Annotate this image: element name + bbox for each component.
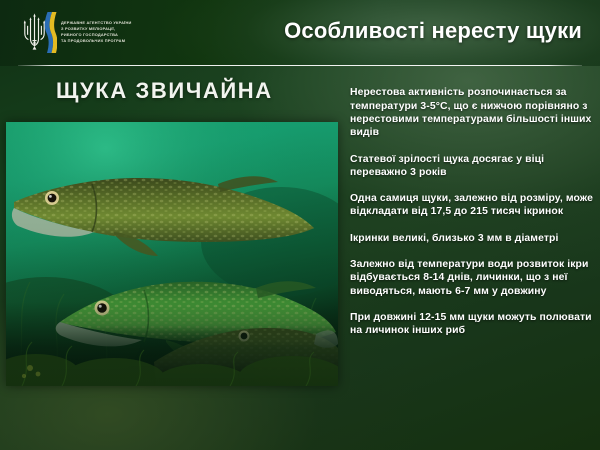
fact-item: Статевої зрілості щука досягає у віці пе…	[350, 153, 594, 180]
page-title: Особливості нересту щуки	[284, 18, 582, 44]
fact-item: Одна самиця щуки, залежно від розміру, м…	[350, 192, 594, 219]
fact-item: Залежно від температури води розвиток ік…	[350, 258, 594, 298]
ukrainian-trident-emblem	[13, 9, 57, 55]
northern-pike-underwater-photo	[6, 122, 338, 386]
agency-name-text: ДЕРЖАВНЕ АГЕНТСТВО УКРАЇНИ З РОЗВИТКУ МЕ…	[61, 20, 132, 44]
agency-logo: ДЕРЖАВНЕ АГЕНТСТВО УКРАЇНИ З РОЗВИТКУ МЕ…	[13, 9, 163, 55]
fact-item: Нерестова активність розпочинається за т…	[350, 86, 594, 139]
presentation-slide: ДЕРЖАВНЕ АГЕНТСТВО УКРАЇНИ З РОЗВИТКУ МЕ…	[0, 0, 600, 450]
fact-item: При довжині 12-15 мм щуки можуть полюват…	[350, 311, 594, 338]
species-subtitle: ЩУКА ЗВИЧАЙНА	[56, 78, 273, 104]
header-divider	[18, 65, 582, 66]
fact-list: Нерестова активність розпочинається за т…	[350, 76, 594, 338]
slide-header: ДЕРЖАВНЕ АГЕНТСТВО УКРАЇНИ З РОЗВИТКУ МЕ…	[0, 0, 600, 66]
fact-item: Ікринки великі, близько 3 мм в діаметрі	[350, 232, 594, 245]
